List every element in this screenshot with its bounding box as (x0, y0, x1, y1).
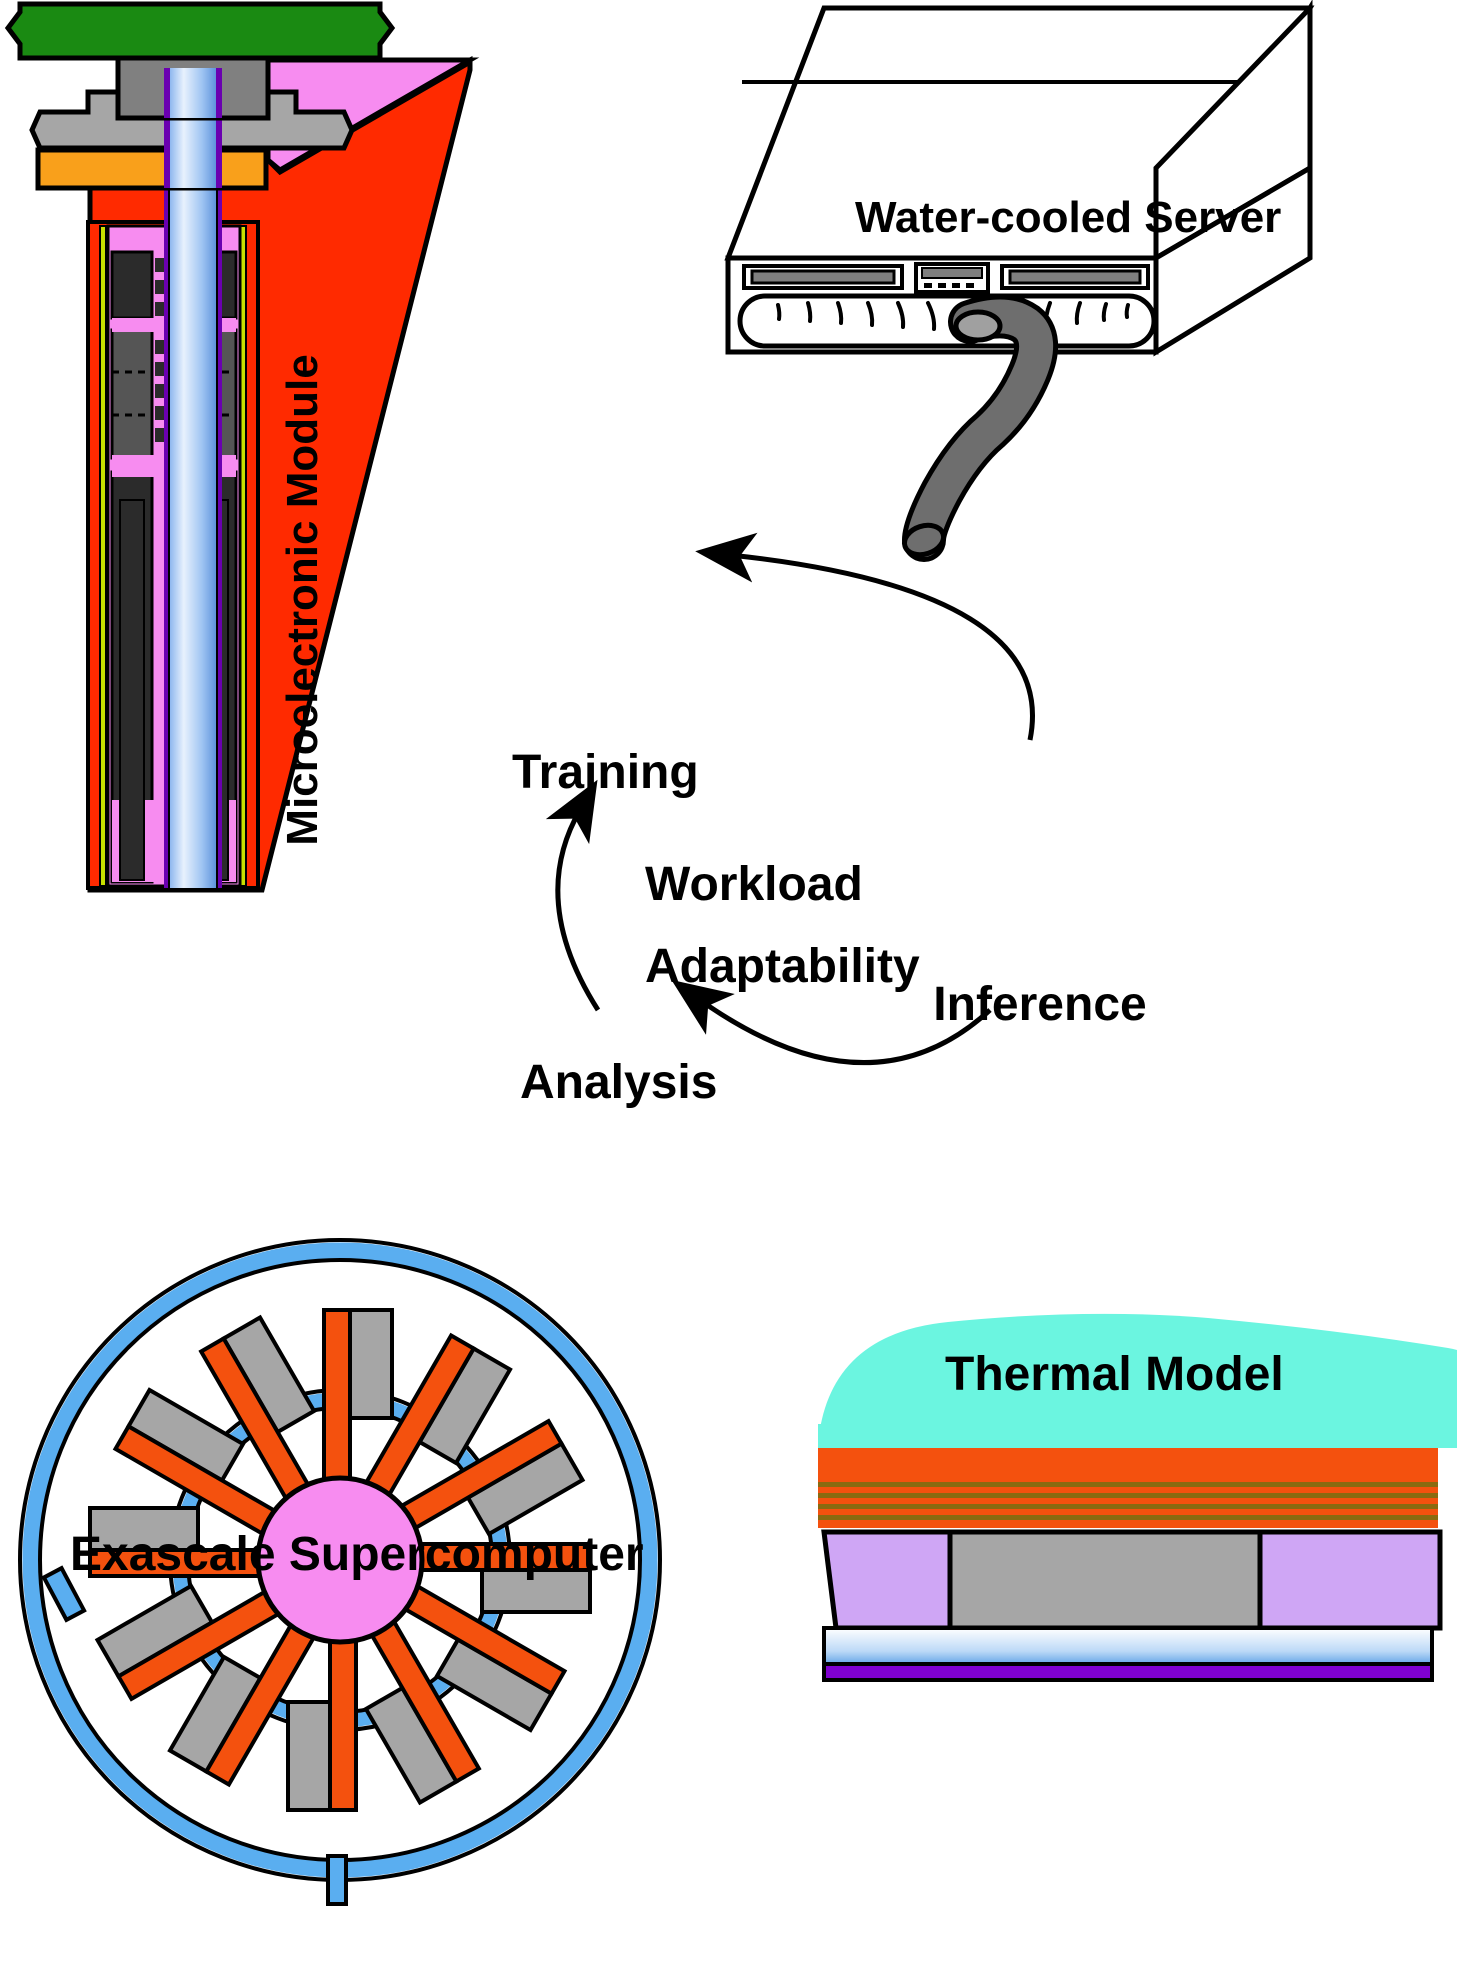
trace-line-left (100, 226, 106, 886)
base-purple (824, 1664, 1432, 1680)
exascale-supercomputer-label: Exascale Supercomputer (70, 1528, 644, 1581)
cycle-center-label-line2: Adaptability (645, 940, 920, 993)
server-front-slots (744, 264, 1148, 292)
blade-gray (288, 1702, 330, 1810)
water-cooled-server-label: Water-cooled Server (855, 193, 1281, 242)
pink-cross-left-1 (112, 318, 160, 332)
blade-gray (350, 1310, 392, 1418)
hose-connector (956, 312, 1000, 340)
green-pcb (8, 4, 392, 58)
die-gray (950, 1532, 1260, 1628)
coolant-channel (164, 88, 222, 888)
cycle-center-label-line1: Workload (645, 858, 863, 911)
inner-fin-left (120, 500, 144, 880)
thermal-model-panel: Thermal Model (818, 1314, 1457, 1680)
die-left-1 (112, 252, 152, 318)
via-column-left (155, 258, 165, 442)
ring-stub-bottom (328, 1856, 346, 1904)
heat-spreader (818, 1448, 1438, 1482)
technical-overview-diagram: Microelectronic Module (0, 0, 1457, 1984)
thermal-model-label: Thermal Model (945, 1348, 1284, 1401)
coolant-fluid (170, 88, 216, 888)
microelectronic-module-label: Microelectronic Module (278, 354, 327, 845)
cycle-node-inference-label: Inference (933, 978, 1146, 1031)
pink-cross-left-2 (112, 455, 160, 477)
die-left-2 (112, 330, 152, 458)
server-vent-bar (740, 296, 1154, 346)
interface-stripes (818, 1482, 1438, 1528)
orange-plate (38, 150, 266, 188)
cycle-node-training-label: Training (512, 746, 699, 799)
figure-canvas: Microelectronic Module (0, 0, 1457, 1984)
cycle-node-analysis-label: Analysis (520, 1056, 717, 1109)
